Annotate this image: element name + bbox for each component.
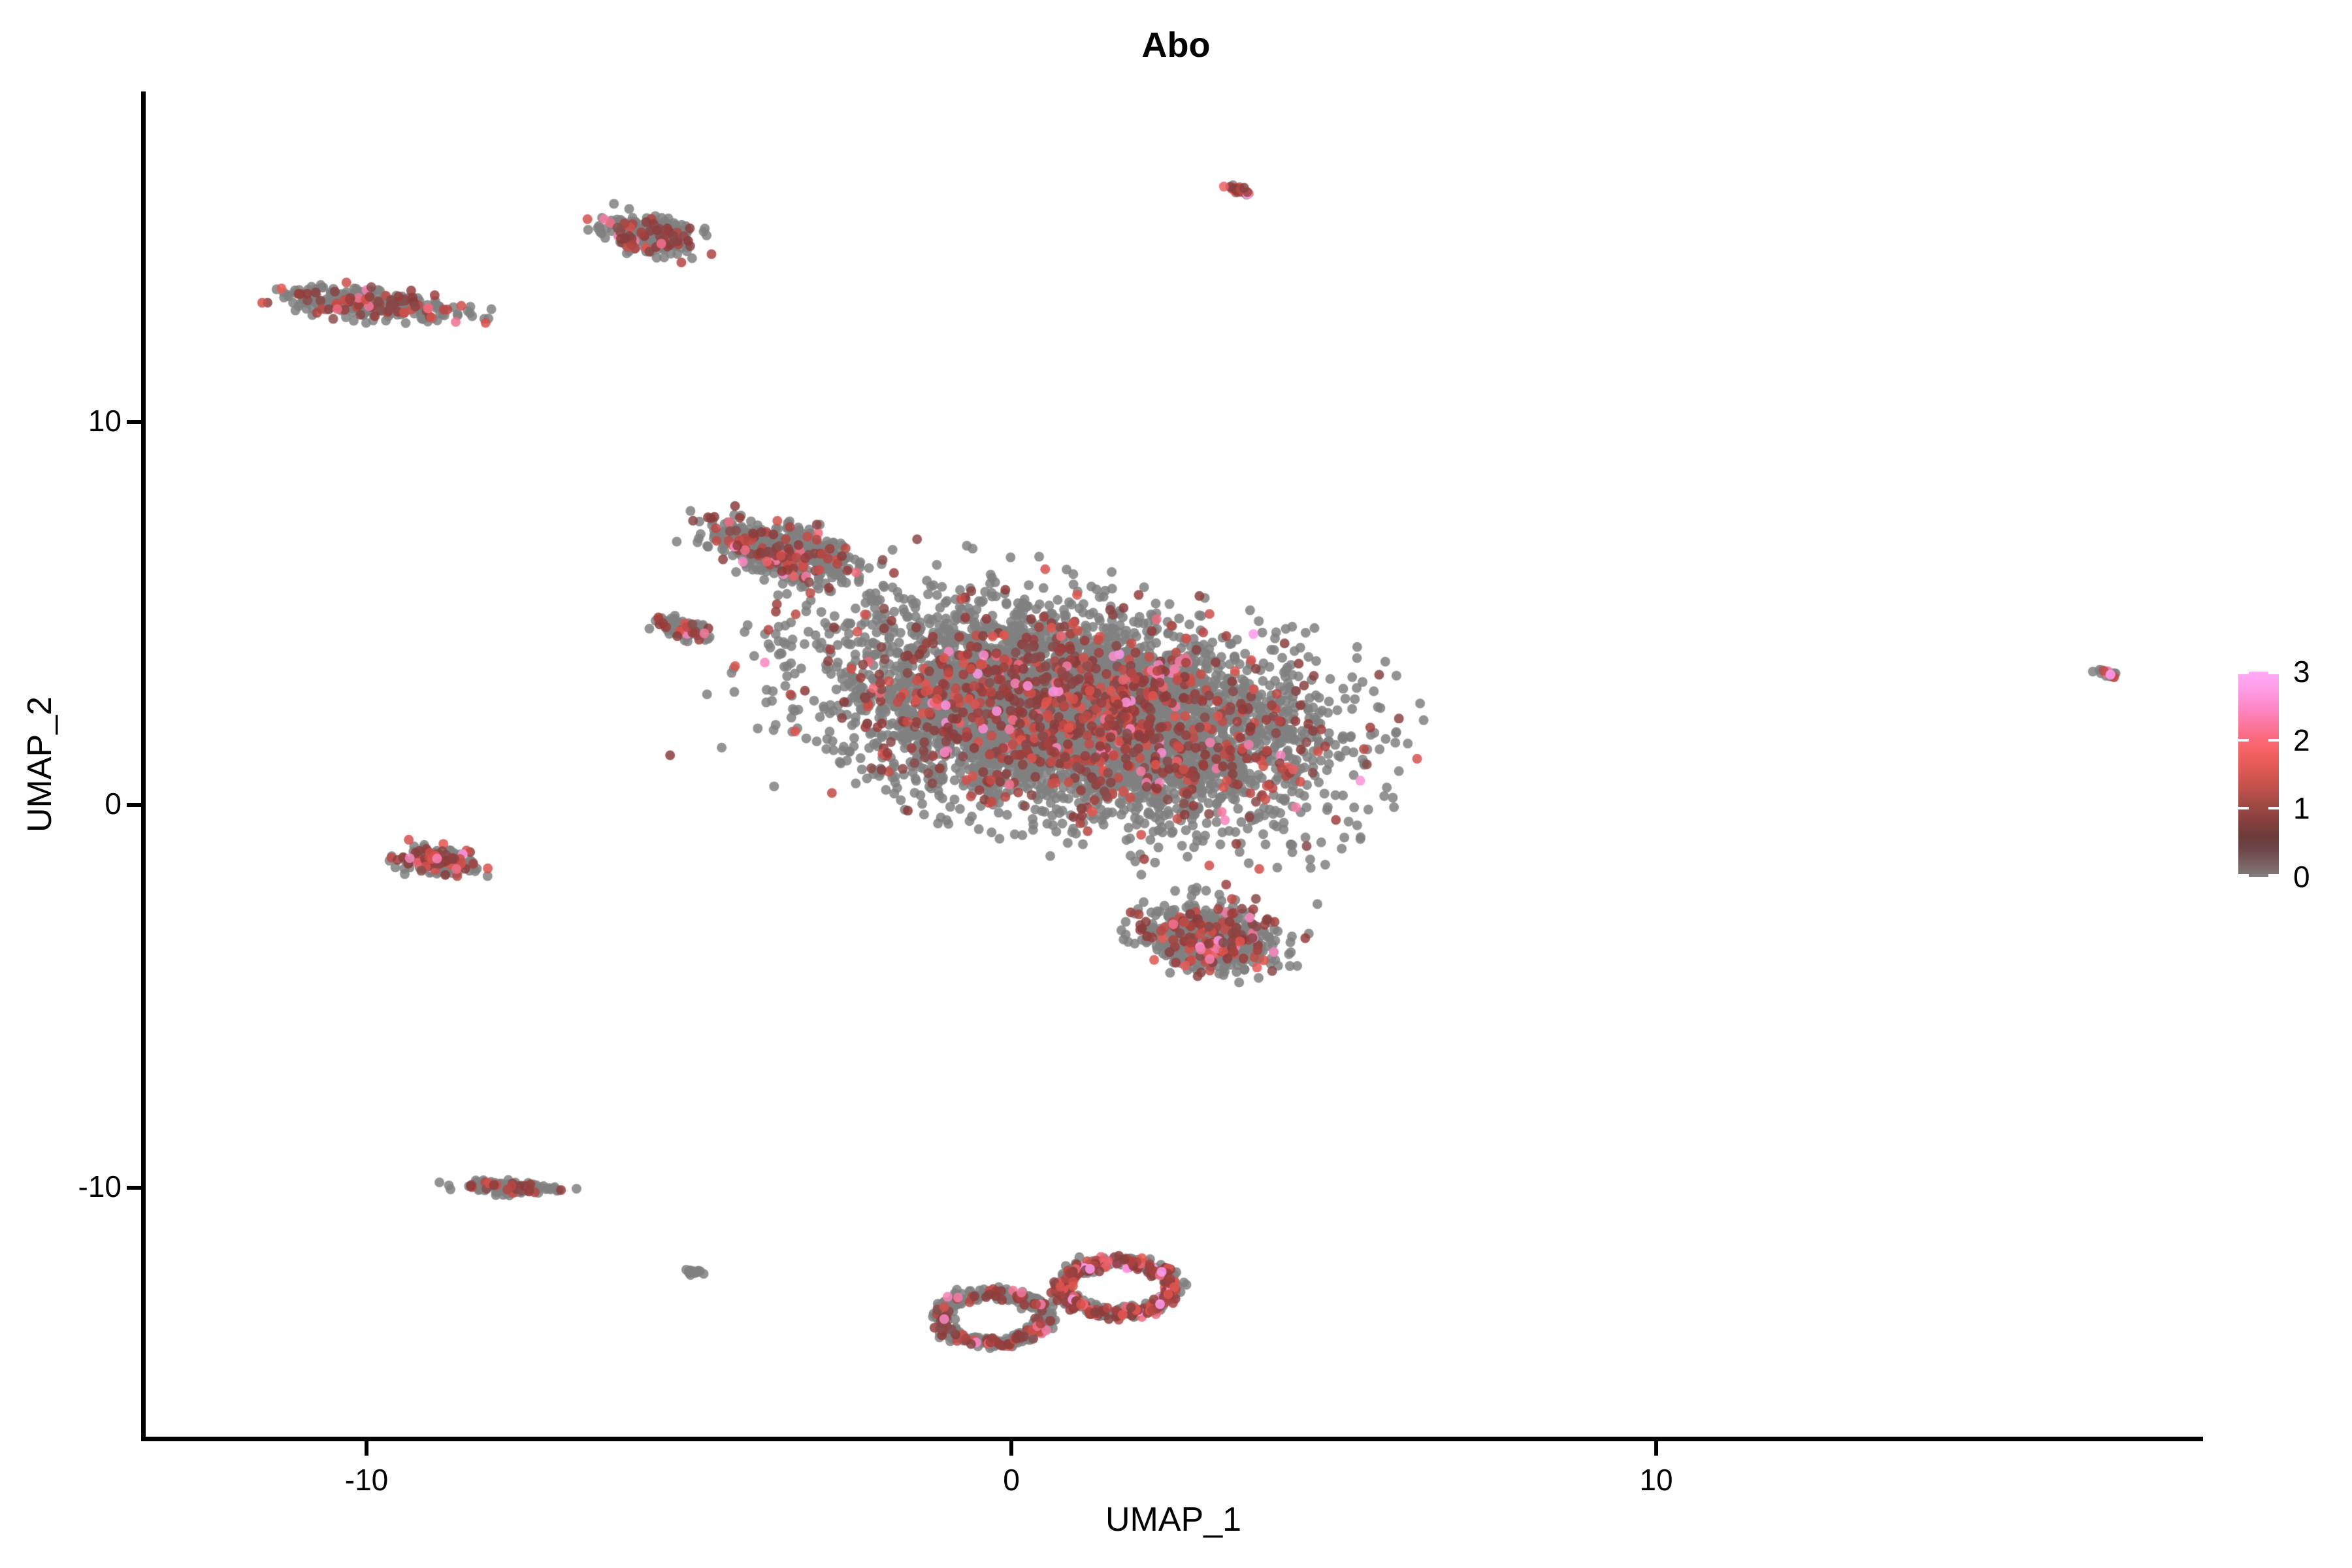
page-title: Abo: [0, 25, 2352, 65]
x-tick-mark: [1009, 1441, 1013, 1456]
x-tick-mark: [1654, 1441, 1658, 1456]
x-tick-label: 0: [1003, 1462, 1020, 1497]
legend-tick-mark: [2268, 672, 2279, 674]
legend-tick-mark: [2238, 739, 2249, 742]
y-tick-label: 10: [88, 403, 122, 438]
y-tick-label: 0: [105, 786, 122, 821]
legend-label: 3: [2293, 654, 2310, 689]
legend-label: 1: [2293, 791, 2310, 826]
x-tick-label: -10: [345, 1462, 388, 1497]
umap-scatter-plot: Abo 100-10 -10010 UMAP_1 UMAP_2 3210: [0, 0, 2352, 1568]
y-axis-title: UMAP_2: [20, 91, 59, 1438]
y-tick-label: -10: [78, 1169, 122, 1204]
legend-label: 2: [2293, 723, 2310, 758]
y-tick-mark: [127, 420, 141, 424]
legend-tick-mark: [2238, 807, 2249, 809]
legend-colorbar: [2238, 672, 2279, 877]
x-axis-line: [141, 1437, 2203, 1441]
legend-tick-mark: [2268, 874, 2279, 877]
y-tick-mark: [127, 1186, 141, 1190]
legend-tick-mark: [2268, 807, 2279, 809]
x-tick-label: 10: [1639, 1462, 1673, 1497]
legend-label: 0: [2293, 859, 2310, 894]
legend-tick-mark: [2268, 739, 2279, 742]
x-axis-title: UMAP_1: [144, 1500, 2202, 1539]
legend-tick-mark: [2238, 672, 2249, 674]
x-tick-mark: [365, 1441, 368, 1456]
legend-tick-mark: [2238, 874, 2249, 877]
y-tick-mark: [127, 803, 141, 807]
color-legend: 3210: [2238, 672, 2343, 887]
plot-panel: [144, 91, 2202, 1439]
scatter-points-layer: [144, 91, 2202, 1439]
y-axis-line: [141, 91, 146, 1441]
